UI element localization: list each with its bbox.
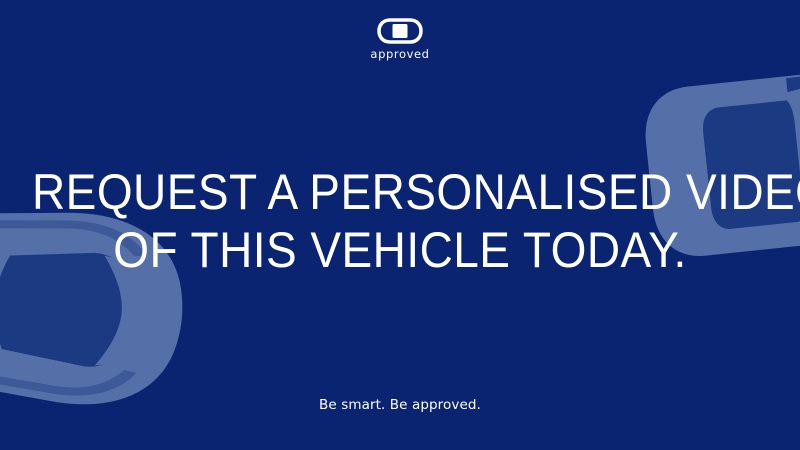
headline-line-1: REQUEST A PERSONALISED VIDEO — [32, 163, 768, 221]
headline-line-2: OF THIS VEHICLE TODAY. — [32, 221, 768, 279]
brand-logo: approved — [0, 18, 800, 61]
tagline: Be smart. Be approved. — [0, 399, 800, 413]
brand-wordmark: approved — [0, 49, 800, 61]
promo-banner: approved REQUEST A PERSONALISED VIDEO OF… — [0, 0, 800, 450]
approved-car-logo-icon — [377, 18, 423, 44]
headline: REQUEST A PERSONALISED VIDEO OF THIS VEH… — [0, 163, 800, 279]
